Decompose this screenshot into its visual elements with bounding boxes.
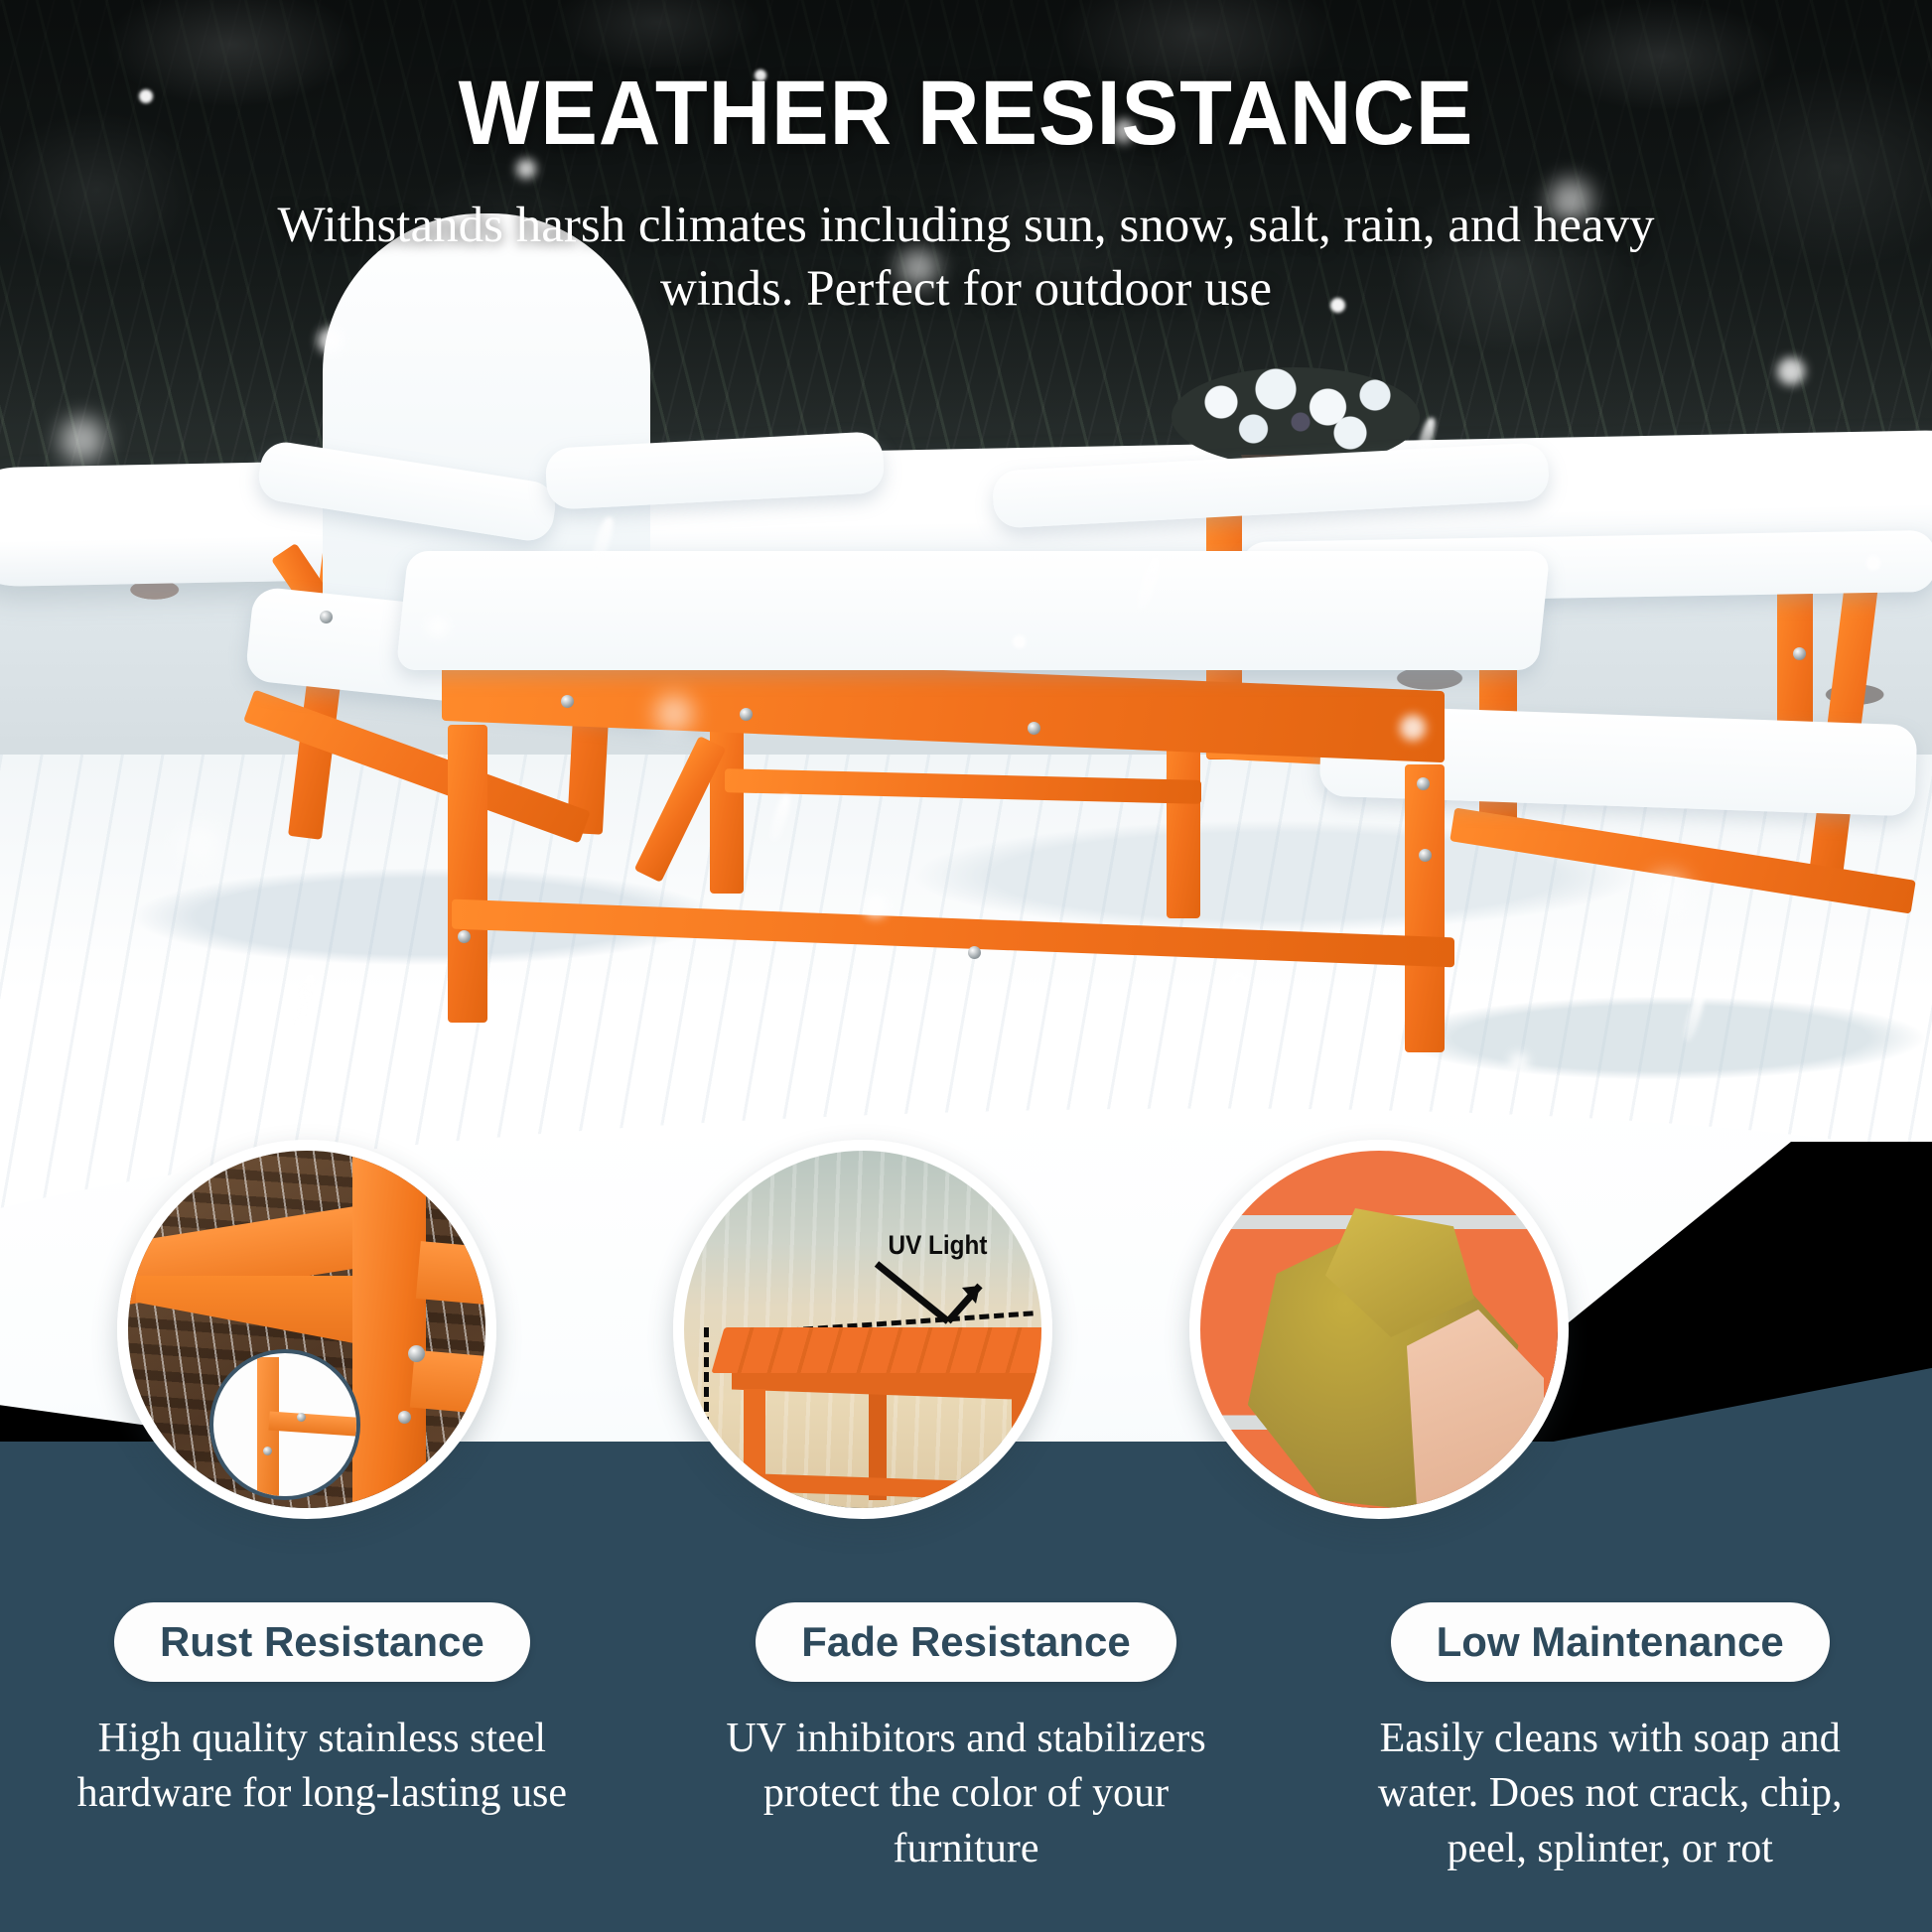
uv-light-label: UV Light: [889, 1230, 988, 1261]
page-title: WEATHER RESISTANCE: [58, 62, 1873, 166]
table-top-slats: [711, 1327, 1051, 1373]
uv-dashed-outline-left: [704, 1327, 709, 1501]
status-badge-fade[interactable]: Fade Resistance: [756, 1602, 1176, 1682]
low-maintenance-inset: [1189, 1140, 1569, 1519]
feature-description-maintenance: Easily cleans with soap and water. Does …: [1333, 1712, 1886, 1876]
page-subtitle: Withstands harsh climates including sun,…: [251, 195, 1681, 322]
screw-icon: [968, 946, 981, 959]
feature-column-fade: Fade Resistance UV inhibitors and stabil…: [644, 1602, 1289, 1876]
table-post: [352, 1140, 426, 1519]
table-leg: [744, 1389, 765, 1519]
patio-coffee-table: [412, 561, 1554, 958]
screw-icon: [297, 1413, 306, 1422]
screw-icon: [1793, 647, 1806, 660]
joint-zoom-inset: [209, 1349, 360, 1500]
table-stretcher: [452, 899, 1454, 968]
screw-icon: [740, 708, 753, 721]
snow-on-tabletop: [396, 551, 1551, 670]
screw-icon: [263, 1447, 272, 1455]
table-stretcher: [725, 768, 1201, 804]
feature-column-maintenance: Low Maintenance Easily cleans with soap …: [1288, 1602, 1932, 1876]
screw-icon: [561, 695, 574, 708]
screw-icon: [320, 611, 333, 623]
screw-icon: [1028, 722, 1040, 735]
status-badge-rust[interactable]: Rust Resistance: [114, 1602, 530, 1682]
table-leg: [1405, 764, 1445, 1052]
screw-icon: [458, 930, 471, 943]
screw-icon: [408, 1345, 425, 1362]
rust-resistance-inset: [117, 1140, 496, 1519]
feature-column-rust: Rust Resistance High quality stainless s…: [0, 1602, 644, 1876]
inset-table-stretcher: [268, 1412, 360, 1438]
screw-icon: [1419, 849, 1432, 862]
table-leg: [448, 725, 487, 1023]
screw-icon: [398, 1411, 411, 1424]
feature-description-rust: High quality stainless steel hardware fo…: [46, 1712, 599, 1822]
fade-resistance-inset: UV Light: [673, 1140, 1052, 1519]
snow-on-back: [992, 442, 1550, 528]
weather-resistance-infographic: WEATHER RESISTANCE Withstands harsh clim…: [0, 0, 1932, 1932]
feature-description-fade: UV inhibitors and stabilizers protect th…: [690, 1712, 1243, 1876]
feature-columns: Rust Resistance High quality stainless s…: [0, 1602, 1932, 1876]
screw-icon: [1417, 777, 1430, 790]
status-badge-maintenance[interactable]: Low Maintenance: [1391, 1602, 1830, 1682]
